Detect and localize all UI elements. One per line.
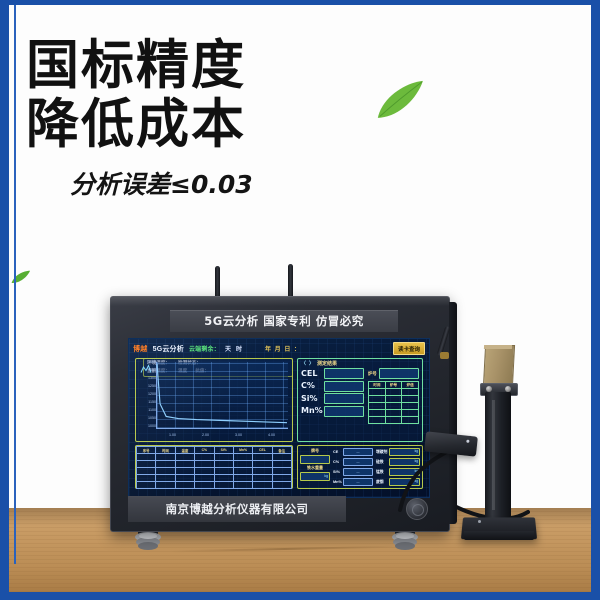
history-cell [402,417,419,424]
grade-select[interactable] [300,455,330,464]
table-cell [214,482,233,489]
table-cell [137,482,156,489]
element-label: C% [333,460,342,464]
table-cell [253,475,272,482]
table-cell [156,461,175,468]
table-cell [233,468,252,475]
sample-cup-rim [484,345,512,349]
screen-topbar: 博越 5G云分析 云端剩余： 天 时 年 月 日 ： 读卡查询 [133,342,425,355]
history-cell [369,396,386,403]
y-tick: 1100 [138,409,156,413]
element-range-field[interactable]: — [343,448,373,456]
cloud-unit-hour: 时 [236,344,242,353]
furnace-label: 炉号 [368,371,377,377]
screen-brand-sub: 5G云分析 [153,344,184,354]
table-col-header: 序号 [137,447,156,454]
y-tick: 1400 [138,361,156,365]
calc-grade-column: 牌号 铁水重量 [300,448,330,486]
next-arrow-icon[interactable]: 〉 [309,360,314,367]
date-fields: 年 月 日 ： [265,344,301,353]
stand-base-face [464,531,534,540]
additive-label: 硅铁 [376,460,388,465]
table-col-header: 时间 [156,447,175,454]
additive-label: 废钢 [376,480,388,485]
history-row[interactable] [369,389,419,396]
lcd-screen[interactable]: 博越 5G云分析 云端剩余： 天 时 年 月 日 ： 读卡查询 环境温度： 检测… [128,338,430,498]
element-range-field[interactable]: — [343,478,373,486]
table-cell [175,475,194,482]
result-row: Mn% [301,406,364,417]
device-top-highlight [110,296,450,306]
table-cell [195,454,214,461]
cooling-curve-line [156,362,288,429]
table-cell [175,454,194,461]
y-tick: 1200 [138,393,156,397]
furnace-row: 炉号 [368,368,419,379]
sample-cup [483,345,515,387]
history-cell [369,403,386,410]
headline-subline: 分析误差≤0.03 [70,165,253,201]
y-tick: 1350 [138,369,156,373]
y-tick: 1050 [138,417,156,421]
x-tick: 2.00 [202,434,209,438]
table-cell [156,475,175,482]
table-cell [175,468,194,475]
element-range-row: Mn%— [333,478,373,486]
result-label: Si% [301,395,322,403]
result-row: Si% [301,393,364,404]
element-range-field[interactable]: — [343,468,373,476]
screen-brand: 博越 [133,344,148,354]
result-label: C% [301,382,322,390]
y-tick: 1000 [138,425,156,429]
stand-post [485,392,511,520]
history-cell [369,410,386,417]
result-row: CEL [301,368,364,379]
table-cell [214,468,233,475]
element-range-row: Si%— [333,468,373,476]
table-row[interactable] [137,482,292,489]
result-value-field[interactable] [324,406,364,417]
history-col-header: 炉号 [385,382,402,389]
weight-input[interactable] [300,472,330,481]
history-row[interactable] [369,396,419,403]
history-cell [402,403,419,410]
cloud-remaining-label: 云端剩余： [189,344,220,353]
history-cell [369,417,386,424]
history-cell [402,389,419,396]
device-banner-text: 5G云分析 国家专利 仿冒必究 [204,313,363,329]
table-cell [195,468,214,475]
stand-base-screw-icon [478,520,481,523]
table-cell [137,468,156,475]
table-cell [253,461,272,468]
history-col-header: 炉值 [402,382,419,389]
table-cell [253,482,272,489]
border-left [0,0,9,600]
table-cell [214,475,233,482]
table-cell [272,482,291,489]
x-tick: 3.00 [235,434,242,438]
history-cell [385,410,402,417]
table-cell [272,454,291,461]
headline-line-1: 国标精度 [26,36,253,95]
table-cell [137,454,156,461]
element-label: Si% [333,470,342,474]
measurement-table: 序号时间温度C%Si%Mn%CEL备注 [136,446,292,489]
border-inner-line [14,4,16,564]
history-row[interactable] [369,410,419,417]
probe-stand[interactable] [462,345,536,545]
table-col-header: 备注 [272,447,291,454]
table-col-header: 温度 [175,447,194,454]
table-col-header: Si% [214,447,233,454]
x-tick: 4.00 [268,434,275,438]
history-cell [402,396,419,403]
chart-y-axis: 1400 1350 1300 1250 1200 1150 1100 1050 … [138,361,156,429]
table-cell [156,454,175,461]
x-tick: 1.00 [169,434,176,438]
table-cell [214,461,233,468]
result-label: CEL [301,370,322,378]
history-row[interactable] [369,403,419,410]
furnace-input[interactable] [379,368,419,379]
results-header: 〈 〉 测定结果 [298,359,422,368]
history-col-header: 时间 [369,382,386,389]
result-value-field[interactable] [324,381,364,392]
table-cell [195,461,214,468]
results-title: 测定结果 [317,360,337,367]
element-label: CE [333,450,342,454]
antenna-right-icon [288,264,293,300]
border-right [591,0,600,600]
headline-line-2: 降低成本 [26,95,253,154]
table-cell [272,475,291,482]
border-bottom [0,592,600,600]
table-cell [137,461,156,468]
y-tick: 1150 [138,401,156,405]
table-cell [272,468,291,475]
headline-block: 国标精度 降低成本 分析误差≤0.03 [26,36,253,201]
table-cell [272,461,291,468]
table-cell [233,482,252,489]
history-cell [385,417,402,424]
y-tick: 1300 [138,377,156,381]
history-table: 时间炉号炉值 [368,381,419,424]
history-cell [385,396,402,403]
cloud-unit-day: 天 [225,344,231,353]
table-col-header: C% [195,447,214,454]
grade-label: 牌号 [300,448,330,454]
history-cell [369,389,386,396]
poster-root: 国标精度 降低成本 分析误差≤0.03 [0,0,600,600]
table-cell [156,482,175,489]
history-row[interactable] [369,417,419,424]
additive-label: 锰铁 [376,470,388,475]
company-name: 南京博越分析仪器有限公司 [166,501,309,517]
y-tick: 1250 [138,385,156,389]
device-banner: 5G云分析 国家专利 仿冒必究 [170,310,398,332]
table-cell [233,454,252,461]
result-value-field[interactable] [324,393,364,404]
result-label: Mn% [301,407,322,415]
cooling-curve-panel[interactable]: 1400 1350 1300 1250 1200 1150 1100 1050 … [135,358,293,442]
results-body: CEL C% Si% Mn% 炉号 时间炉号炉值 [298,368,422,424]
result-row: C% [301,381,364,392]
additive-label: 增碳剂 [376,450,388,455]
read-card-button[interactable]: 读卡查询 [393,342,425,355]
prev-arrow-icon[interactable]: 〈 [301,360,306,367]
element-range-field[interactable]: — [343,458,373,466]
result-value-field[interactable] [324,368,364,379]
results-values: CEL C% Si% Mn% [301,368,364,424]
element-range-row: CE— [333,448,373,456]
measurement-table-panel[interactable]: 序号时间温度C%Si%Mn%CEL备注 [135,445,293,489]
brand-bar: 南京博越分析仪器有限公司 [128,496,346,522]
chart-x-axis: 1.00 2.00 3.00 4.00 [156,434,288,438]
calc-range-column: CE—C%—Si%—Mn%— [333,448,373,486]
table-cell [233,461,252,468]
results-panel: 〈 〉 测定结果 CEL C% Si% Mn% 炉号 [297,358,423,442]
table-cell [253,454,272,461]
history-cell [385,389,402,396]
antenna-left-icon [215,266,220,300]
history-header-row: 时间炉号炉值 [369,382,419,389]
history-cell [402,410,419,417]
table-cell [195,475,214,482]
table-col-header: Mn% [233,447,252,454]
table-cell [253,468,272,475]
antenna-connector [440,352,449,359]
table-cell [214,454,233,461]
weight-label: 铁水重量 [300,465,330,471]
furnace-section: 炉号 时间炉号炉值 [368,368,419,424]
stand-post-highlight [492,400,495,510]
table-cell [137,475,156,482]
table-row[interactable] [137,461,292,468]
table-row[interactable] [137,475,292,482]
table-cell [195,482,214,489]
table-cell [175,482,194,489]
table-row[interactable] [137,454,292,461]
history-cell [385,403,402,410]
table-cell [175,461,194,468]
table-header-row: 序号时间温度C%Si%Mn%CEL备注 [137,447,292,454]
border-top [0,0,600,5]
element-range-row: C%— [333,458,373,466]
table-cell [156,468,175,475]
element-label: Mn% [333,480,342,484]
table-cell [233,475,252,482]
table-row[interactable] [137,468,292,475]
table-col-header: CEL [253,447,272,454]
